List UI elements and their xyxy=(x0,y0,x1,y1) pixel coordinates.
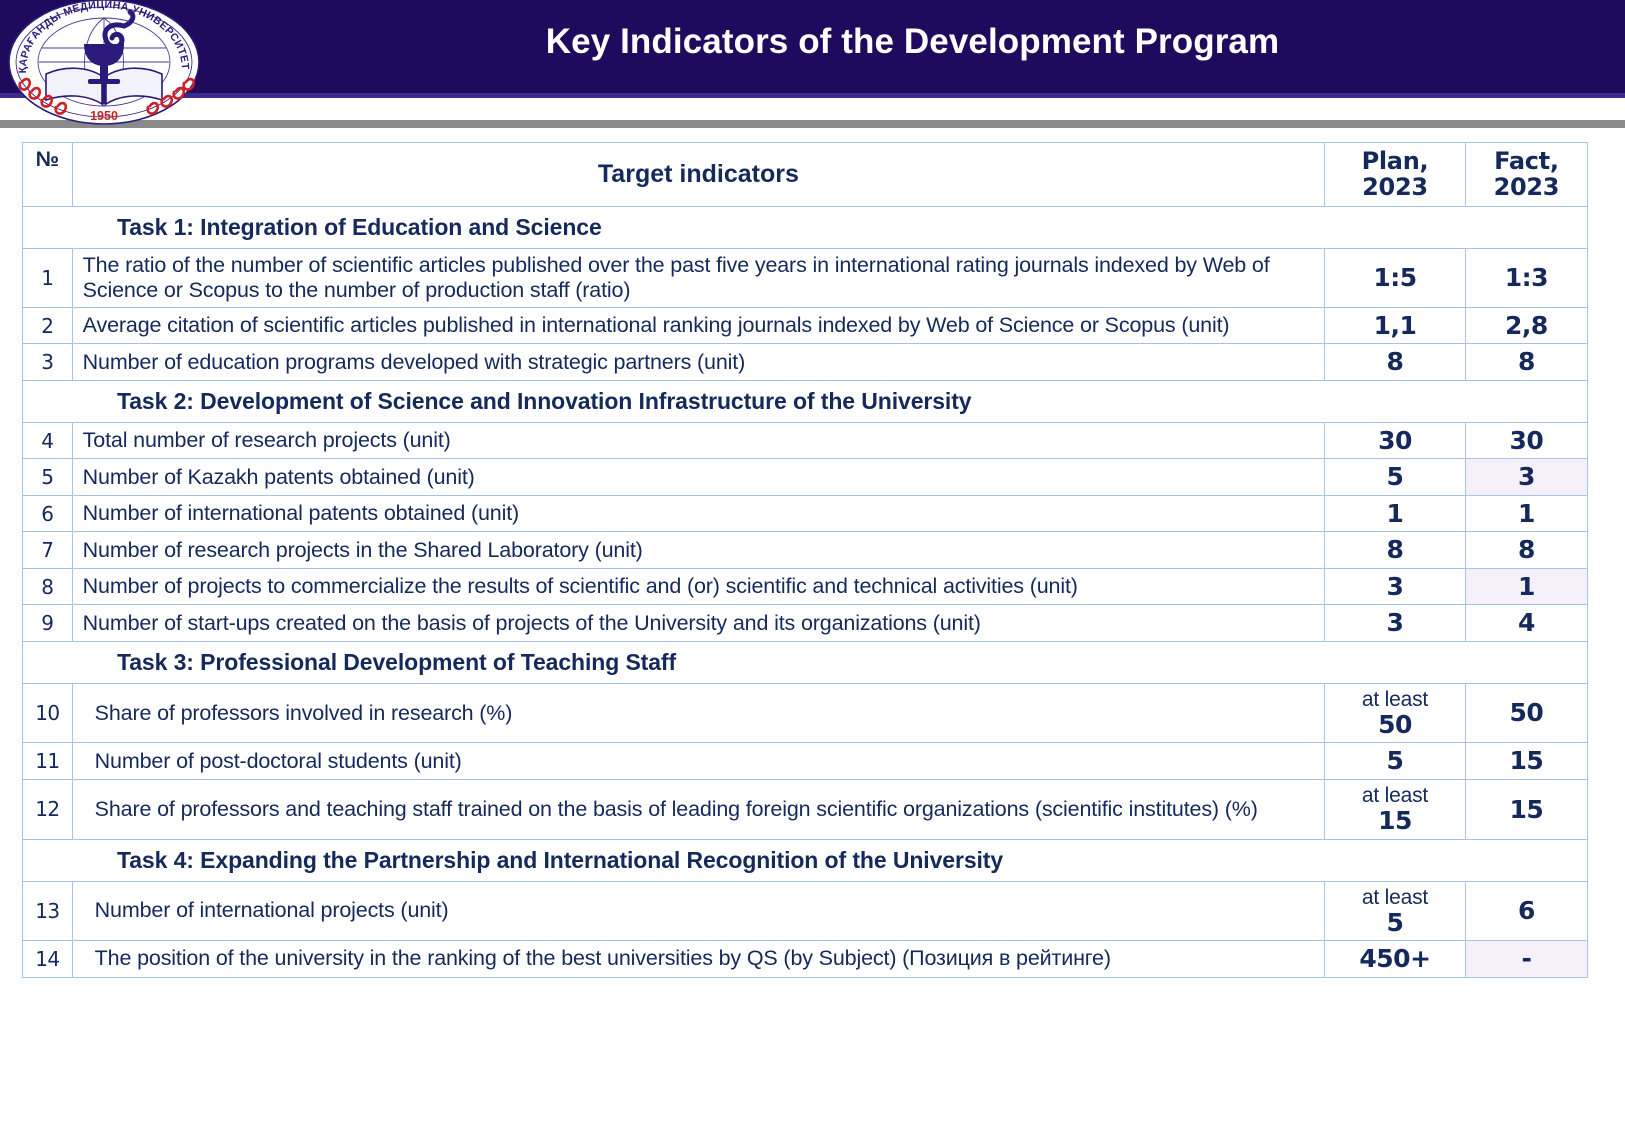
plan-value: 450+ xyxy=(1325,941,1466,978)
task-section-title: Task 4: Expanding the Partnership and In… xyxy=(23,839,1588,881)
fact-value: 15 xyxy=(1465,743,1587,780)
indicator-text: Number of research projects in the Share… xyxy=(72,532,1324,569)
table-row: 3Number of education programs developed … xyxy=(23,344,1588,381)
plan-prefix: at least xyxy=(1331,688,1459,711)
plan-value: at least15 xyxy=(1325,779,1466,839)
row-number: 10 xyxy=(23,683,73,743)
row-number: 13 xyxy=(23,881,73,941)
fact-line-1: Fact, xyxy=(1494,147,1559,175)
table-row: 8Number of projects to commercialize the… xyxy=(23,568,1588,605)
table-row: 2Average citation of scientific articles… xyxy=(23,307,1588,344)
col-header-target-indicators: Target indicators xyxy=(72,143,1324,207)
plan-value: at least5 xyxy=(1325,881,1466,941)
fact-value: 8 xyxy=(1465,532,1587,569)
col-header-num: № xyxy=(23,143,73,207)
plan-line-1: Plan, xyxy=(1362,147,1429,175)
indicator-text: Share of professors and teaching staff t… xyxy=(72,779,1324,839)
indicators-table-container: №Target indicatorsPlan,2023Fact,2023Task… xyxy=(22,142,1588,978)
fact-value: 8 xyxy=(1465,344,1587,381)
fact-value: 15 xyxy=(1465,779,1587,839)
grey-divider-bar xyxy=(0,120,1625,128)
table-row: 5Number of Kazakh patents obtained (unit… xyxy=(23,459,1588,496)
row-number: 14 xyxy=(23,941,73,978)
plan-value: 5 xyxy=(1325,743,1466,780)
plan-value: 1:5 xyxy=(1325,249,1466,308)
task-section-title: Task 2: Development of Science and Innov… xyxy=(23,380,1588,422)
plan-value: 8 xyxy=(1325,344,1466,381)
table-row: 13Number of international projects (unit… xyxy=(23,881,1588,941)
task-section-title: Task 1: Integration of Education and Sci… xyxy=(23,207,1588,249)
plan-value: 30 xyxy=(1325,422,1466,459)
fact-value: 1 xyxy=(1465,568,1587,605)
indicator-text: Average citation of scientific articles … xyxy=(72,307,1324,344)
plan-line-2: 2023 xyxy=(1362,173,1428,201)
plan-value: 1 xyxy=(1325,495,1466,532)
plan-prefix: at least xyxy=(1331,886,1459,909)
plan-value: 5 xyxy=(1325,459,1466,496)
university-logo-icon: ҚАРАҒАНДЫ МЕДИЦИНА УНИВЕРСИТЕТІ 1950 xyxy=(6,0,202,128)
fact-value: 1 xyxy=(1465,495,1587,532)
indicator-text: Share of professors involved in research… xyxy=(72,683,1324,743)
indicator-text: Number of Kazakh patents obtained (unit) xyxy=(72,459,1324,496)
row-number: 11 xyxy=(23,743,73,780)
row-number: 2 xyxy=(23,307,73,344)
task-section-header: Task 4: Expanding the Partnership and In… xyxy=(23,839,1588,881)
row-number: 3 xyxy=(23,344,73,381)
fact-value: 1:3 xyxy=(1465,249,1587,308)
header-banner: Key Indicators of the Development Progra… xyxy=(0,0,1625,98)
table-row: 12Share of professors and teaching staff… xyxy=(23,779,1588,839)
plan-value: 8 xyxy=(1325,532,1466,569)
row-number: 7 xyxy=(23,532,73,569)
indicator-text: Number of international patents obtained… xyxy=(72,495,1324,532)
row-number: 1 xyxy=(23,249,73,308)
plan-number: 50 xyxy=(1331,711,1459,739)
fact-value: 50 xyxy=(1465,683,1587,743)
indicator-text: Number of start-ups created on the basis… xyxy=(72,605,1324,642)
col-header-plan: Plan,2023 xyxy=(1325,143,1466,207)
fact-value: 2,8 xyxy=(1465,307,1587,344)
plan-value: 1,1 xyxy=(1325,307,1466,344)
plan-value: at least50 xyxy=(1325,683,1466,743)
indicator-text: The ratio of the number of scientific ar… xyxy=(72,249,1324,308)
row-number: 5 xyxy=(23,459,73,496)
fact-value: 3 xyxy=(1465,459,1587,496)
task-section-header: Task 2: Development of Science and Innov… xyxy=(23,380,1588,422)
table-row: 14The position of the university in the … xyxy=(23,941,1588,978)
banner-underline xyxy=(0,93,1625,98)
table-row: 9Number of start-ups created on the basi… xyxy=(23,605,1588,642)
fact-value: - xyxy=(1465,941,1587,978)
table-row: 1The ratio of the number of scientific a… xyxy=(23,249,1588,308)
plan-value: 3 xyxy=(1325,568,1466,605)
fact-value: 30 xyxy=(1465,422,1587,459)
plan-value: 3 xyxy=(1325,605,1466,642)
row-number: 6 xyxy=(23,495,73,532)
row-number: 4 xyxy=(23,422,73,459)
fact-line-2: 2023 xyxy=(1494,173,1560,201)
plan-number: 15 xyxy=(1331,807,1459,835)
task-section-header: Task 1: Integration of Education and Sci… xyxy=(23,207,1588,249)
fact-value: 4 xyxy=(1465,605,1587,642)
indicator-text: The position of the university in the ra… xyxy=(72,941,1324,978)
row-number: 12 xyxy=(23,779,73,839)
table-row: 4Total number of research projects (unit… xyxy=(23,422,1588,459)
row-number: 9 xyxy=(23,605,73,642)
table-row: 11Number of post-doctoral students (unit… xyxy=(23,743,1588,780)
key-indicators-table: №Target indicatorsPlan,2023Fact,2023Task… xyxy=(22,142,1588,978)
indicator-text: Total number of research projects (unit) xyxy=(72,422,1324,459)
indicator-text: Number of projects to commercialize the … xyxy=(72,568,1324,605)
plan-number: 5 xyxy=(1331,909,1459,937)
page-title: Key Indicators of the Development Progra… xyxy=(220,22,1605,62)
task-section-title: Task 3: Professional Development of Teac… xyxy=(23,641,1588,683)
logo-year: 1950 xyxy=(90,109,118,123)
row-number: 8 xyxy=(23,568,73,605)
task-section-header: Task 3: Professional Development of Teac… xyxy=(23,641,1588,683)
fact-value: 6 xyxy=(1465,881,1587,941)
table-row: 10Share of professors involved in resear… xyxy=(23,683,1588,743)
indicator-text: Number of international projects (unit) xyxy=(72,881,1324,941)
table-row: 6Number of international patents obtaine… xyxy=(23,495,1588,532)
table-row: 7Number of research projects in the Shar… xyxy=(23,532,1588,569)
table-header-row: №Target indicatorsPlan,2023Fact,2023 xyxy=(23,143,1588,207)
plan-prefix: at least xyxy=(1331,784,1459,807)
indicator-text: Number of education programs developed w… xyxy=(72,344,1324,381)
col-header-fact: Fact,2023 xyxy=(1465,143,1587,207)
indicator-text: Number of post-doctoral students (unit) xyxy=(72,743,1324,780)
